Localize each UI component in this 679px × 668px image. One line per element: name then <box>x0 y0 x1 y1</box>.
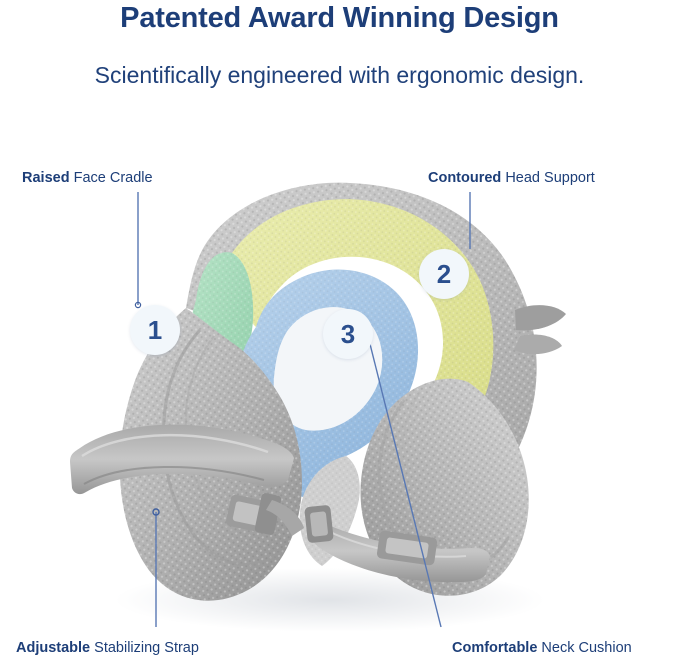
callout-badge-1: 1 <box>130 305 180 355</box>
callout-label-raised-rest: Face Cradle <box>70 170 153 186</box>
callout-label-contoured-rest: Head Support <box>501 170 595 186</box>
product-infographic: Patented Award Winning Design Scientific… <box>0 0 679 668</box>
callout-label-comfortable-neck-cushion: Comfortable Neck Cushion <box>452 640 632 656</box>
callout-label-raised-bold: Raised <box>22 170 70 186</box>
callout-label-contoured-head-support: Contoured Head Support <box>428 170 595 186</box>
callout-label-adjustable-stabilizing-strap: Adjustable Stabilizing Strap <box>16 640 199 656</box>
callout-label-comfortable-bold: Comfortable <box>452 640 537 656</box>
callout-label-raised-face-cradle: Raised Face Cradle <box>22 170 153 186</box>
callout-label-comfortable-rest: Neck Cushion <box>537 640 631 656</box>
callout-label-contoured-bold: Contoured <box>428 170 501 186</box>
callout-badge-2: 2 <box>419 249 469 299</box>
callout-badge-3: 3 <box>323 309 373 359</box>
callout-label-adjustable-bold: Adjustable <box>16 640 90 656</box>
callout-label-adjustable-rest: Stabilizing Strap <box>90 640 199 656</box>
